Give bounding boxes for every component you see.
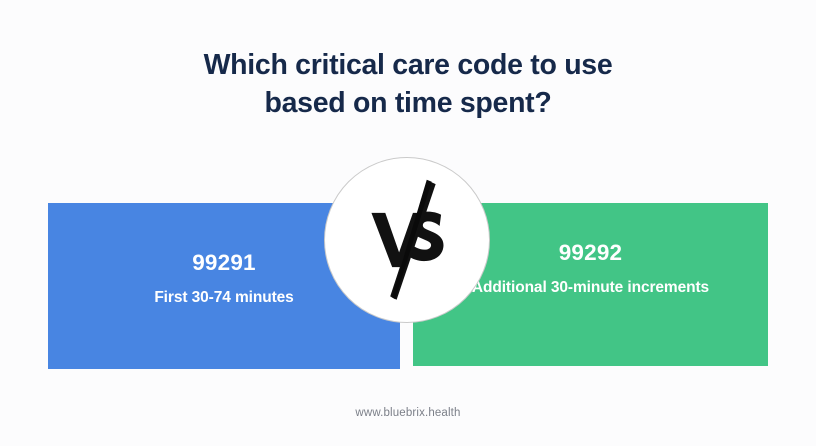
- footer: www.bluebrix.health: [0, 403, 816, 421]
- comparison-panels: 99291 First 30-74 minutes 99292 Addition…: [0, 0, 816, 446]
- footer-website-url: www.bluebrix.health: [355, 407, 460, 419]
- critical-care-code-infographic: Which critical care code to use based on…: [0, 0, 816, 446]
- vs-badge-circle: [324, 157, 490, 323]
- vs-slash-icon: [325, 158, 489, 322]
